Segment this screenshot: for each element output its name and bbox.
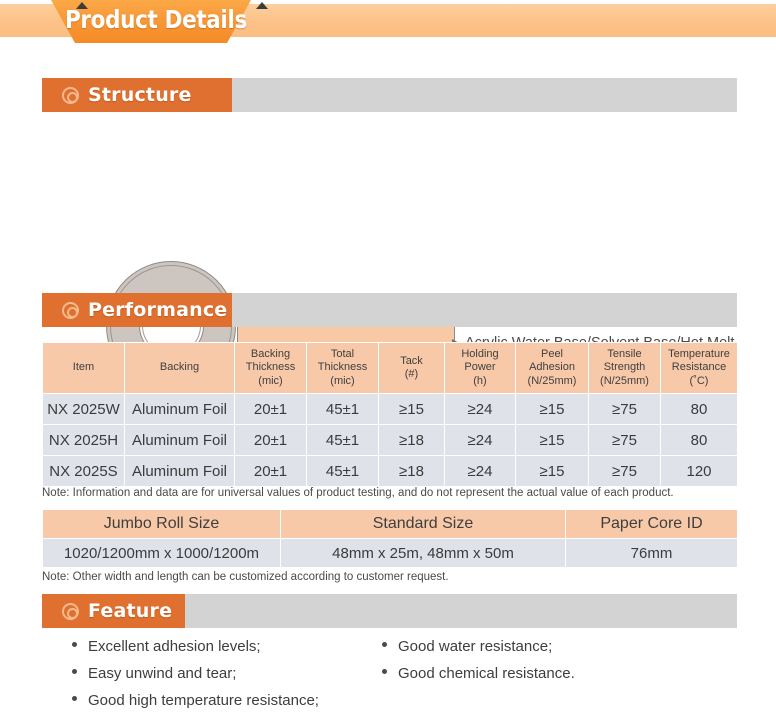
table-cell: ≥15 [379, 394, 445, 425]
table-cell: NX 2025H [43, 425, 125, 456]
section-title-feature: Feature [88, 600, 172, 622]
table-cell: Aluminum Foil [125, 394, 235, 425]
feature-item: Easy unwind and tear; [72, 665, 319, 692]
table-cell: ≥24 [445, 456, 516, 487]
table-cell: 20±1 [235, 425, 307, 456]
section-header-performance-label-block: Performance [42, 293, 232, 327]
table-cell: ≥24 [445, 425, 516, 456]
bullet-icon [382, 669, 387, 674]
table-row: NX 2025HAluminum Foil20±145±1≥18≥24≥15≥7… [43, 425, 738, 456]
size-column-header-2: Paper Core ID [566, 510, 738, 539]
feature-item: Good water resistance; [382, 638, 575, 665]
section-header-performance: Performance [42, 293, 737, 327]
feature-item: Good high temperature resistance; [72, 692, 319, 716]
table-cell: 20±1 [235, 394, 307, 425]
size-column-header-0: Jumbo Roll Size [43, 510, 281, 539]
column-header-6: PeelAdhesion(N/25mm) [516, 343, 589, 394]
size-table-header-row: Jumbo Roll SizeStandard SizePaper Core I… [43, 510, 738, 539]
size-column-header-1: Standard Size [281, 510, 566, 539]
section-title-structure: Structure [88, 84, 192, 106]
column-header-7: TensileStrength(N/25mm) [589, 343, 661, 394]
table-cell: NX 2025S [43, 456, 125, 487]
size-table-row: 1020/1200mm x 1000/1200m48mm x 25m, 48mm… [43, 539, 738, 568]
table-cell: ≥75 [589, 425, 661, 456]
page-title: Product Details [65, 3, 237, 39]
table-cell: 20±1 [235, 456, 307, 487]
double-ring-icon [62, 302, 79, 319]
table-cell: 80 [661, 394, 738, 425]
size-table-cell: 1020/1200mm x 1000/1200m [43, 539, 281, 568]
table-cell: ≥24 [445, 394, 516, 425]
table-cell: ≥18 [379, 425, 445, 456]
size-table-cell: 48mm x 25m, 48mm x 50m [281, 539, 566, 568]
product-details-page: Product Details Structure Aluminum Backi… [0, 0, 776, 716]
bullet-icon [72, 669, 77, 674]
feature-list-left: Excellent adhesion levels;Easy unwind an… [72, 638, 319, 716]
column-header-5: HoldingPower(h) [445, 343, 516, 394]
feature-text: Good water resistance; [398, 638, 552, 655]
table-cell: 45±1 [307, 425, 379, 456]
bullet-icon [72, 642, 77, 647]
table-header-row: ItemBackingBackingThickness(mic)TotalThi… [43, 343, 738, 394]
table-cell: Aluminum Foil [125, 456, 235, 487]
structure-diagram: Aluminum Backing Acrylic Water Base/Solv… [0, 125, 776, 275]
table-cell: 80 [661, 425, 738, 456]
table-cell: Aluminum Foil [125, 425, 235, 456]
column-header-1: Backing [125, 343, 235, 394]
column-header-3: TotalThickness(mic) [307, 343, 379, 394]
feature-item: Good chemical resistance. [382, 665, 575, 692]
table-cell: 45±1 [307, 394, 379, 425]
performance-note: Note: Information and data are for unive… [42, 487, 674, 499]
section-header-feature: Feature [42, 594, 737, 628]
feature-text: Excellent adhesion levels; [88, 638, 261, 655]
feature-list-right: Good water resistance;Good chemical resi… [382, 638, 575, 692]
section-header-structure: Structure [42, 78, 737, 112]
table-cell: ≥75 [589, 456, 661, 487]
ribbon-notch-right-icon [256, 2, 268, 9]
table-row: NX 2025SAluminum Foil20±145±1≥18≥24≥15≥7… [43, 456, 738, 487]
table-cell: NX 2025W [43, 394, 125, 425]
size-note: Note: Other width and length can be cust… [42, 571, 449, 583]
feature-item: Excellent adhesion levels; [72, 638, 319, 665]
size-table-cell: 76mm [566, 539, 738, 568]
double-ring-icon [62, 87, 79, 104]
feature-text: Easy unwind and tear; [88, 665, 236, 682]
table-cell: ≥15 [516, 425, 589, 456]
section-header-structure-label-block: Structure [42, 78, 232, 112]
feature-text: Good chemical resistance. [398, 665, 575, 682]
column-header-0: Item [43, 343, 125, 394]
table-cell: ≥75 [589, 394, 661, 425]
table-cell: ≥15 [516, 394, 589, 425]
table-row: NX 2025WAluminum Foil20±145±1≥15≥24≥15≥7… [43, 394, 738, 425]
table-cell: 45±1 [307, 456, 379, 487]
column-header-2: BackingThickness(mic) [235, 343, 307, 394]
double-ring-icon [62, 603, 79, 620]
section-title-performance: Performance [88, 299, 227, 321]
size-table: Jumbo Roll SizeStandard SizePaper Core I… [42, 509, 738, 568]
bullet-icon [382, 642, 387, 647]
performance-table: ItemBackingBackingThickness(mic)TotalThi… [42, 342, 738, 487]
table-cell: ≥15 [516, 456, 589, 487]
column-header-8: TemperatureResistance(˚C) [661, 343, 738, 394]
bullet-icon [72, 696, 77, 701]
feature-text: Good high temperature resistance; [88, 692, 319, 709]
table-cell: ≥18 [379, 456, 445, 487]
table-cell: 120 [661, 456, 738, 487]
column-header-4: Tack(#) [379, 343, 445, 394]
section-header-feature-label-block: Feature [42, 594, 185, 628]
